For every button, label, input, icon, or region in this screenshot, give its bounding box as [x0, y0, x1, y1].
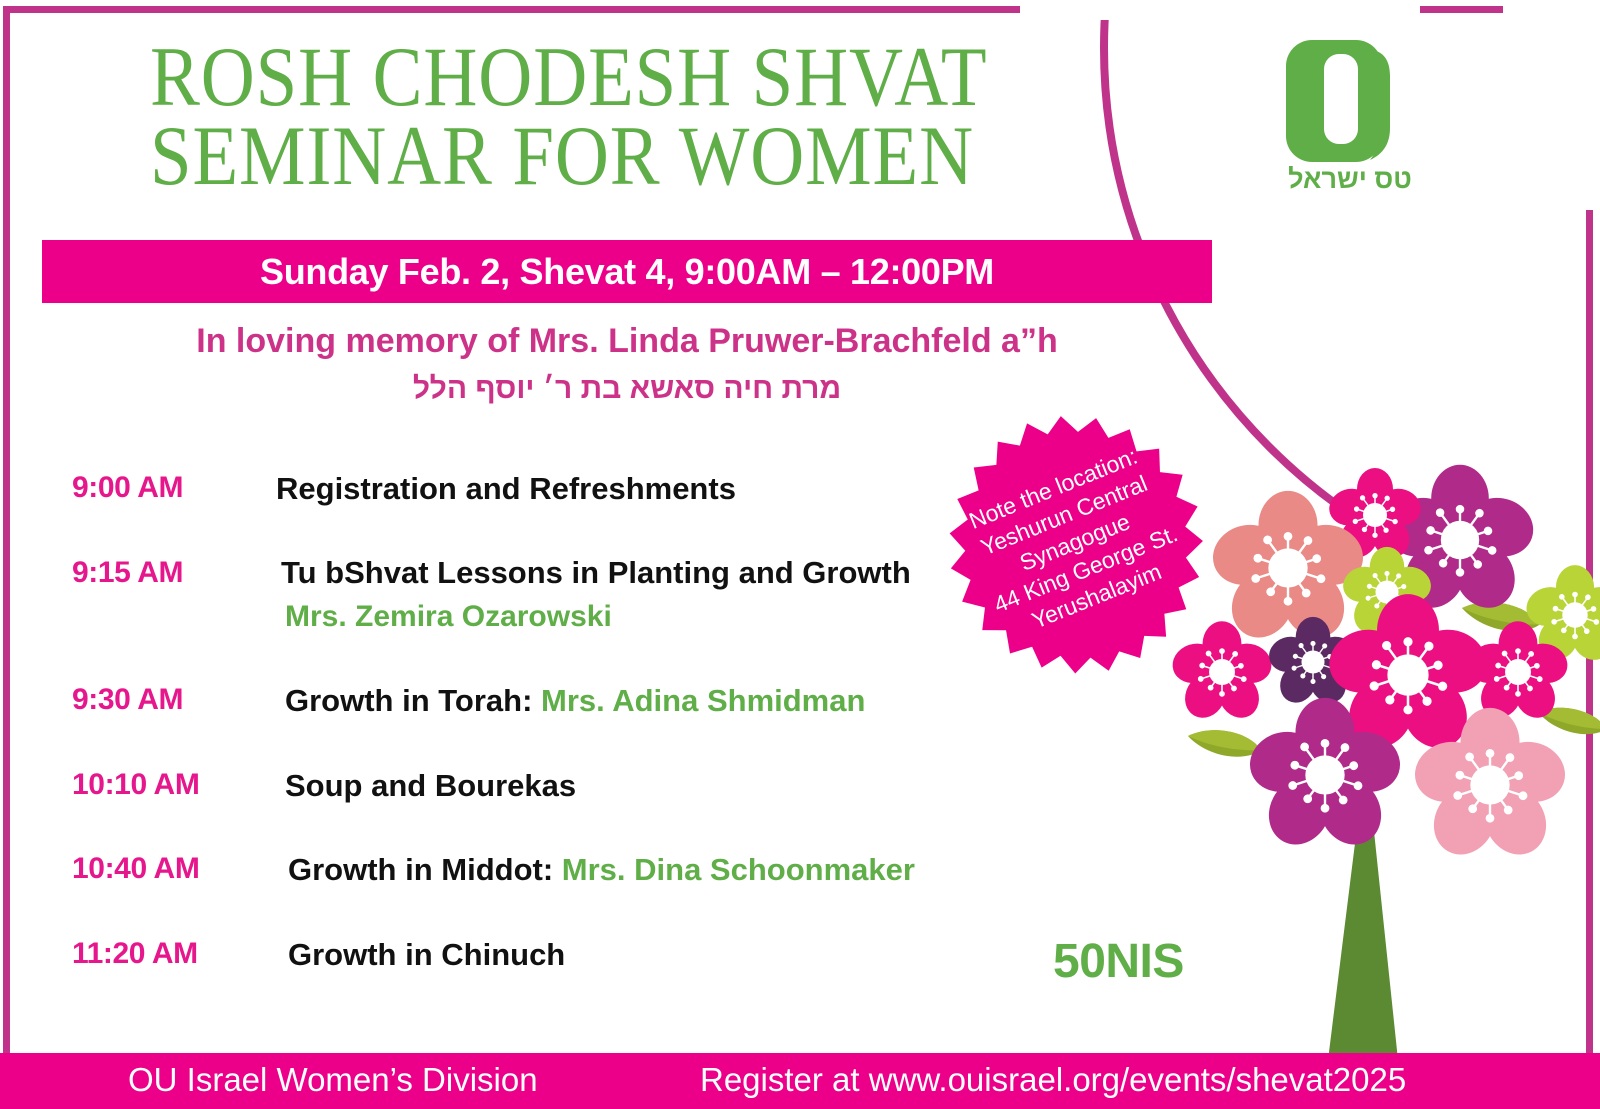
location-badge: Note the location: Yeshurun Central Syna…: [938, 408, 1213, 678]
schedule-time: 9:30 AM: [72, 683, 183, 717]
date-banner: Sunday Feb. 2, Shevat 4, 9:00AM – 12:00P…: [42, 240, 1212, 303]
arc-mask-a: [1020, 0, 1420, 20]
footer-register-link[interactable]: Register at www.ouisrael.org/events/shev…: [700, 1061, 1406, 1099]
schedule-speaker: Mrs. Zemira Ozarowski: [285, 600, 612, 634]
date-banner-text: Sunday Feb. 2, Shevat 4, 9:00AM – 12:00P…: [260, 251, 994, 293]
schedule-speaker: Mrs. Adina Shmidman: [541, 683, 865, 718]
schedule-time: 10:10 AM: [72, 768, 199, 802]
schedule-desc: Growth in Chinuch: [288, 937, 565, 973]
schedule-time: 9:15 AM: [72, 556, 183, 590]
schedule-time: 11:20 AM: [72, 937, 198, 971]
schedule-desc: Registration and Refreshments: [276, 471, 736, 507]
schedule-desc: Growth in Torah: Mrs. Adina Shmidman: [285, 683, 865, 719]
memorial-hebrew: מרת חיה סאשא בת ר׳ יוסף הלל: [42, 372, 1212, 406]
flyer-canvas: ROSH CHODESH SHVAT SEMINAR FOR WOMEN טס …: [0, 0, 1600, 1109]
memorial-english: In loving memory of Mrs. Linda Pruwer-Br…: [42, 322, 1212, 361]
schedule-time: 9:00 AM: [72, 471, 183, 505]
ou-logo-mark: טס ישראל: [1280, 32, 1420, 202]
logo-hebrew-text: טס ישראל: [1288, 164, 1412, 194]
schedule-time: 10:40 AM: [72, 852, 199, 886]
schedule-desc: Tu bShvat Lessons in Planting and Growth: [281, 555, 911, 591]
footer-bar: OU Israel Women’s Division Register at w…: [0, 1053, 1600, 1109]
schedule-desc: Growth in Middot: Mrs. Dina Schoonmaker: [288, 852, 915, 888]
footer-organization: OU Israel Women’s Division: [128, 1061, 538, 1099]
schedule-speaker: Mrs. Dina Schoonmaker: [562, 852, 915, 887]
ou-israel-logo: טס ישראל: [1280, 32, 1420, 202]
schedule-desc-text: Growth in Torah:: [285, 683, 532, 718]
schedule-desc: Soup and Bourekas: [285, 768, 576, 804]
schedule-desc-text: Growth in Middot:: [288, 852, 553, 887]
frame-left-border: [3, 6, 10, 1053]
page-title: ROSH CHODESH SHVAT SEMINAR FOR WOMEN: [150, 38, 1100, 196]
